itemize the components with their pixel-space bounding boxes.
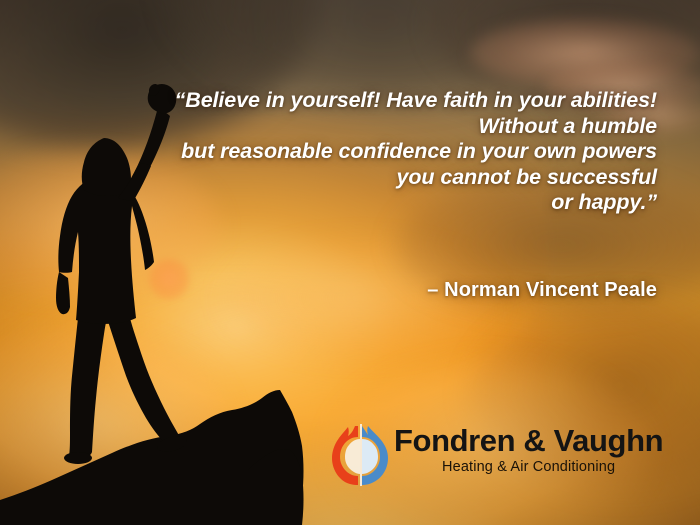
quote-poster: “Believe in yourself! Have faith in your… (0, 0, 700, 525)
logo-tagline: Heating & Air Conditioning (394, 459, 663, 476)
quote-line-4: you cannot be successful (137, 165, 657, 191)
lower-hand (56, 272, 70, 314)
logo-text-block: Fondren & Vaughn Heating & Air Condition… (394, 420, 663, 476)
quote-text: “Believe in yourself! Have faith in your… (137, 88, 657, 216)
left-leg (69, 318, 107, 458)
right-leg (107, 318, 181, 447)
company-logo[interactable]: Fondren & Vaughn Heating & Air Condition… (332, 420, 663, 486)
quote-line-2: Without a humble (137, 114, 657, 140)
quote-line-5: or happy.” (137, 190, 657, 216)
logo-company-name: Fondren & Vaughn (394, 424, 663, 458)
quote-line-3: but reasonable confidence in your own po… (137, 139, 657, 165)
quote-attribution: – Norman Vincent Peale (427, 279, 657, 302)
quote-line-1: “Believe in yourself! Have faith in your… (137, 88, 657, 114)
left-shoe (64, 452, 92, 464)
flame-and-droplet-circle-icon (332, 424, 388, 486)
head-hood (82, 138, 131, 196)
